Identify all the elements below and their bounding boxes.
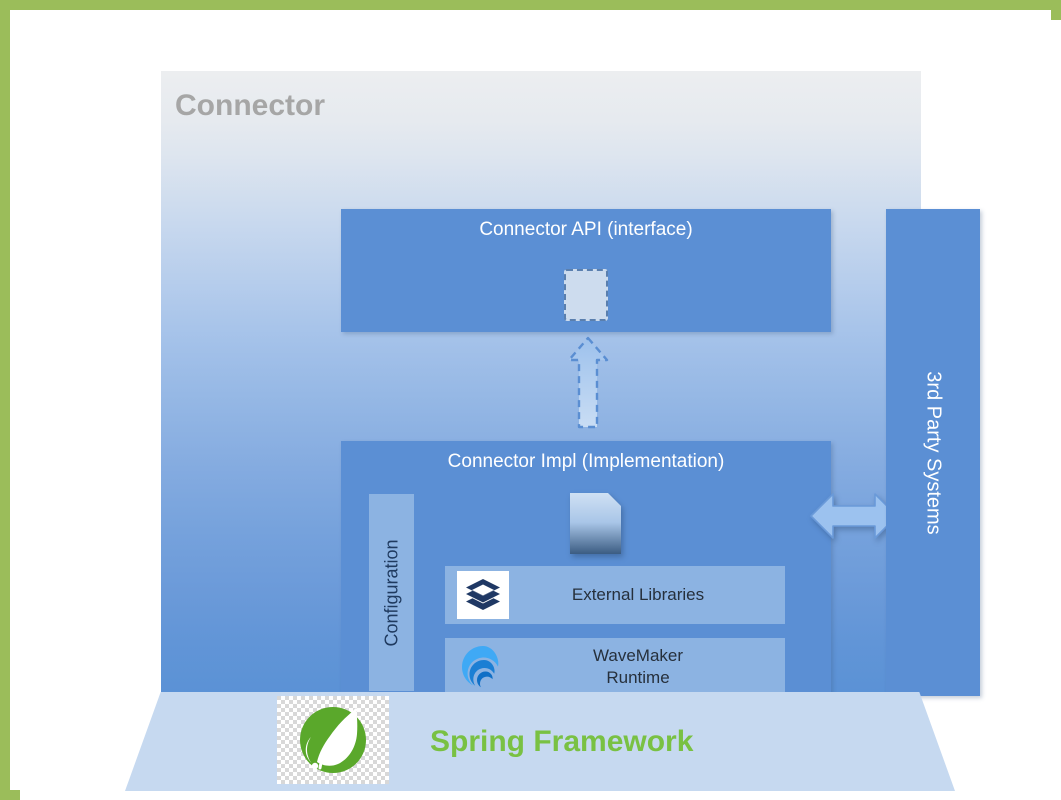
row-wavemaker-runtime-line1: WaveMaker (593, 646, 683, 665)
connector-impl-box[interactable]: Connector Impl (Implementation) Configur… (341, 441, 831, 711)
row-wavemaker-runtime-line2: Runtime (606, 668, 669, 687)
connector-panel: Connector Connector API (interface) (161, 71, 921, 692)
connector-api-label: Connector API (interface) (341, 219, 831, 241)
spring-framework-band: Spring Framework (125, 692, 955, 791)
configuration-strip[interactable]: Configuration (369, 494, 414, 691)
row-wavemaker-runtime[interactable]: WaveMaker Runtime (445, 638, 785, 696)
row-external-libraries-label: External Libraries (509, 584, 785, 606)
dashed-up-arrow-icon (565, 335, 611, 431)
third-party-systems-column[interactable]: 3rd Party Systems (886, 209, 980, 696)
connector-impl-label: Connector Impl (Implementation) (341, 451, 831, 473)
dashed-document-icon (564, 269, 608, 321)
connector-api-box[interactable]: Connector API (interface) (341, 209, 831, 332)
inner-white-canvas: Connector Connector API (interface) (20, 20, 1061, 800)
layers-stack-icon (457, 571, 509, 619)
page-title: Connector (175, 89, 325, 123)
third-party-systems-label: 3rd Party Systems (922, 371, 945, 534)
row-external-libraries[interactable]: External Libraries (445, 566, 785, 624)
configuration-label: Configuration (381, 539, 402, 646)
spring-leaf-logo (277, 696, 389, 784)
document-icon (568, 491, 623, 556)
outer-green-frame: Connector Connector API (interface) (0, 0, 1061, 800)
spring-framework-label: Spring Framework (430, 725, 693, 759)
row-wavemaker-runtime-label: WaveMaker Runtime (509, 645, 785, 689)
wavemaker-wave-icon (457, 643, 509, 691)
